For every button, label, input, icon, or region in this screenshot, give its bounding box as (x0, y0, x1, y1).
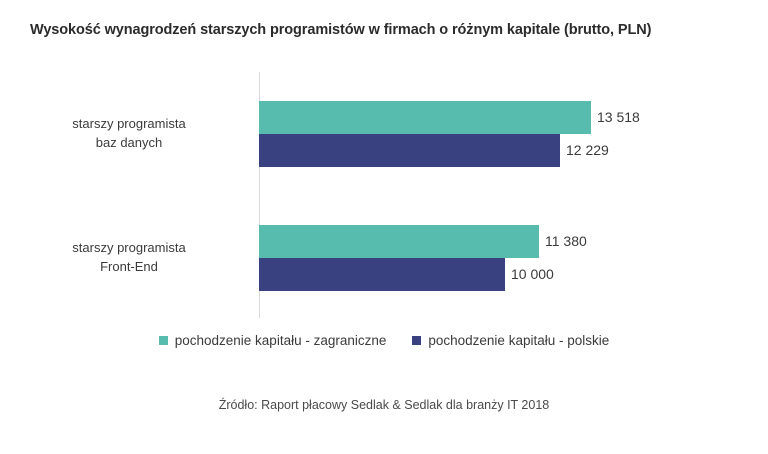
category-label-front-end: starszy programista Front-End (14, 238, 244, 276)
bar-polskie-baz-danych (259, 134, 560, 167)
value-label-polskie-baz-danych: 12 229 (566, 134, 609, 167)
category-label-line-1: starszy programista (14, 114, 244, 133)
chart-container: Wysokość wynagrodzeń starszych programis… (0, 0, 768, 454)
category-label-line-1: starszy programista (14, 238, 244, 257)
legend-swatch-icon-polskie (412, 336, 421, 345)
chart-legend: pochodzenie kapitału - zagraniczne pocho… (0, 333, 768, 348)
value-label-zagraniczne-baz-danych: 13 518 (597, 101, 640, 134)
category-label-line-2: Front-End (14, 257, 244, 276)
category-label-baz-danych: starszy programista baz danych (14, 114, 244, 152)
legend-item-zagraniczne[interactable]: pochodzenie kapitału - zagraniczne (159, 333, 387, 348)
legend-label-zagraniczne: pochodzenie kapitału - zagraniczne (175, 333, 387, 348)
legend-label-polskie: pochodzenie kapitału - polskie (428, 333, 609, 348)
legend-swatch-icon-zagraniczne (159, 336, 168, 345)
bar-zagraniczne-front-end (259, 225, 539, 258)
legend-item-polskie[interactable]: pochodzenie kapitału - polskie (412, 333, 609, 348)
value-label-zagraniczne-front-end: 11 380 (545, 225, 587, 258)
plot-area: starszy programista baz danych starszy p… (0, 0, 768, 454)
bar-zagraniczne-baz-danych (259, 101, 591, 134)
category-label-line-2: baz danych (14, 133, 244, 152)
value-label-polskie-front-end: 10 000 (511, 258, 554, 291)
bar-polskie-front-end (259, 258, 505, 291)
source-note: Źródło: Raport płacowy Sedlak & Sedlak d… (0, 398, 768, 412)
